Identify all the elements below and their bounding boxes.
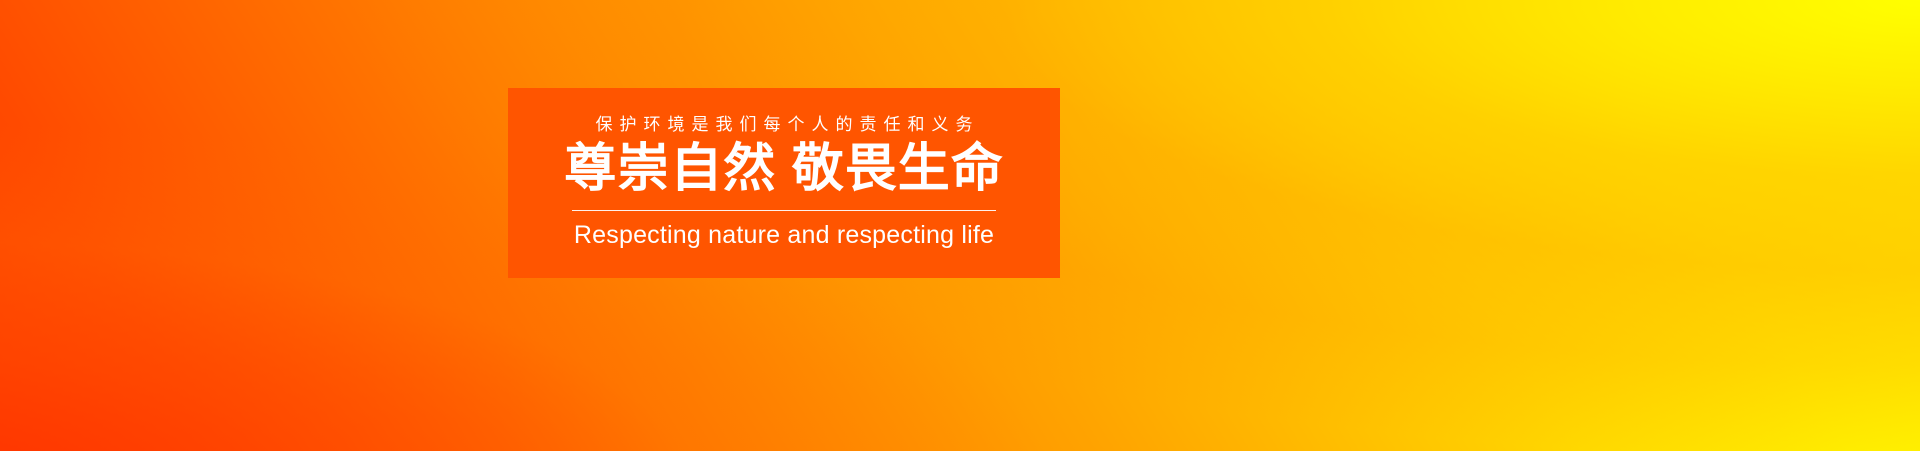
headline-chinese: 尊崇自然 敬畏生命 (564, 142, 1003, 197)
divider-rule (572, 210, 996, 211)
environment-slogan-banner: 保护环境是我们每个人的责任和义务 尊崇自然 敬畏生命 Respecting na… (0, 0, 1920, 451)
tagline-english: Respecting nature and respecting life (574, 222, 994, 250)
slogan-card: 保护环境是我们每个人的责任和义务 尊崇自然 敬畏生命 Respecting na… (508, 88, 1060, 278)
subtitle-chinese: 保护环境是我们每个人的责任和义务 (589, 116, 980, 133)
